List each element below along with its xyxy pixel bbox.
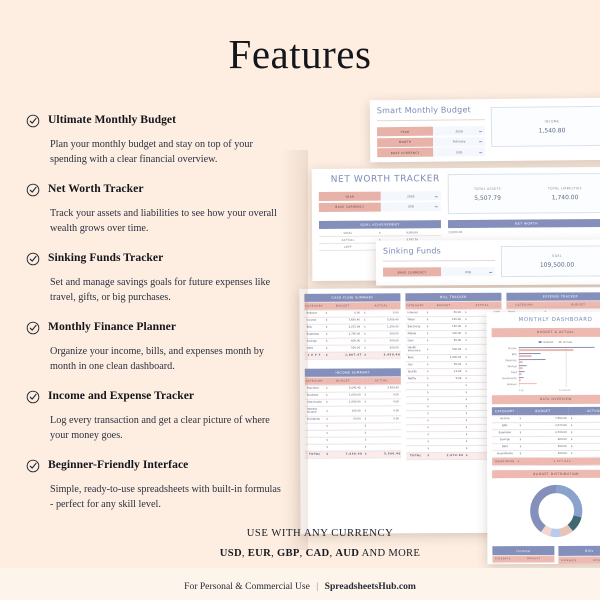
feature-title: Income and Expense Tracker [48, 389, 194, 403]
col-category: CATEGORY [405, 302, 424, 310]
col-category: CATEGORY [506, 301, 542, 309]
field-label: YEAR [319, 192, 381, 201]
cell-category: Health Insurance [406, 345, 425, 355]
donut-chart [527, 482, 585, 540]
feature-title: Sinking Funds Tracker [48, 251, 163, 265]
field-row[interactable]: BASE CURRENCY USD [377, 147, 485, 157]
kpi-label: GOAL [552, 254, 562, 258]
check-circle-icon [26, 459, 40, 478]
kpi-value: 1,540.80 [539, 127, 566, 134]
col-actual: ACTUAL [362, 377, 400, 385]
kpi-label: TOTAL LIABILITIES [526, 186, 600, 191]
chart-row: Expenses [495, 359, 600, 363]
col-category: CATEGORY [305, 378, 324, 386]
check-circle-icon [26, 390, 40, 409]
check-circle-icon [26, 321, 40, 340]
feature-description: Set and manage savings goals for future … [50, 275, 284, 306]
check-circle-icon [26, 252, 40, 271]
cash-flow-summary-table: CASH FLOW SUMMARY CATEGORY BUDGET ACTUAL… [304, 293, 400, 359]
cell-actual: 0.00 [382, 406, 401, 416]
field-row[interactable]: YEAR 2026 [319, 191, 441, 201]
chart-row: Income [495, 347, 600, 351]
chart-row: Bills [495, 353, 600, 357]
cell-currency: $ [362, 352, 381, 359]
col-budget: BUDGET [324, 302, 362, 310]
currency-suffix: AND MORE [362, 548, 421, 559]
currency-block: USE WITH ANY CURRENCY USD, EUR, GBP, CAD… [170, 528, 470, 559]
field-value[interactable]: USD [381, 202, 441, 211]
sheet-sinking-funds[interactable]: Sinking Funds BASE CURRENCY USD GOAL 109… [376, 239, 600, 285]
field-label: BASE CURRENCY [383, 267, 441, 276]
divider [377, 119, 485, 121]
field-label: BASE CURRENCY [377, 148, 433, 158]
cell-budget: 500.00 [444, 344, 463, 354]
row-label: LEFT [319, 243, 377, 250]
mini-table-bills: Bills Category Amount Rent $750.00 Water… [558, 546, 600, 564]
chart-row: Savings [495, 365, 600, 369]
dashboard-title: MONTHLY DASHBOARD [492, 317, 600, 323]
col-budget: BUDGET [425, 302, 463, 310]
table-row: Salary $5,000.00 [492, 563, 554, 564]
feature-item: Income and Expense Tracker Log every tra… [26, 389, 284, 444]
page-title: Features [0, 30, 600, 78]
section-budget-and-actual: BUDGET & ACTUAL [492, 328, 600, 337]
chart-row: Debt [495, 371, 600, 375]
mini-table-income: Income Category Amount Salary $5,000.00 … [492, 546, 554, 564]
feature-item: Sinking Funds Tracker Set and manage sav… [26, 251, 284, 306]
x-tick: 10,000.00 [559, 389, 570, 392]
cell-currency: $ [363, 406, 382, 416]
footer: For Personal & Commercial Use | Spreadsh… [0, 581, 600, 592]
field-row[interactable]: BASE CURRENCY USD [383, 267, 495, 277]
total-label: L E F T [305, 352, 324, 359]
table-header-row: Category Amount [558, 556, 600, 564]
x-tick: 0.00 [519, 389, 524, 392]
field-label: MONTH [377, 137, 433, 147]
feature-title: Monthly Finance Planner [48, 320, 176, 334]
chart-legend: BUDGET ACTUAL [495, 341, 600, 344]
check-circle-icon [26, 183, 40, 202]
kpi-value: 109,500.00 [540, 262, 574, 269]
field-label: YEAR [377, 127, 433, 137]
footer-usage: For Personal & Commercial Use [184, 581, 310, 592]
section-budget-distribution: BUDGET DISTRIBUTION [492, 469, 600, 478]
income-summary-table: INCOME SUMMARY CATEGORY BUDGET ACTUAL Pa… [305, 368, 401, 458]
chart-axis-label: 10,000.00 [448, 229, 600, 234]
field-value[interactable]: February [433, 137, 485, 147]
currency-code: GBP [277, 548, 300, 559]
currency-heading: USE WITH ANY CURRENCY [170, 528, 470, 539]
section-goal-achievement: GOAL ACHIEVEMENT [319, 220, 441, 229]
feature-title: Ultimate Monthly Budget [48, 113, 176, 127]
total-budget: 1,807.47 [343, 352, 362, 359]
chart-row: Investments [495, 377, 600, 381]
feature-description: Simple, ready-to-use spreadsheets with b… [50, 482, 284, 513]
kpi-label: INCOME [545, 119, 560, 123]
net-worth-title: NET WORTH TRACKER [319, 174, 441, 185]
table-caption: Bills [558, 546, 600, 556]
section-net-worth: NET WORTH [448, 219, 600, 228]
table-caption: Income [492, 546, 554, 555]
features-list: Ultimate Monthly Budget Plan your monthl… [26, 113, 284, 527]
kpi-value: 1,740.00 [526, 194, 600, 202]
divider [383, 260, 495, 262]
currency-codes: USD, EUR, GBP, CAD, AUD AND MORE [170, 548, 470, 559]
cell-budget: 100.00 [343, 406, 362, 416]
currency-code: CAD [306, 548, 330, 559]
table-caption: EXPENSE TRACKER [506, 292, 600, 301]
field-value[interactable]: 2026 [381, 191, 441, 200]
table-total-row: L E F T $ 1,807.47 $ 3,450.40 [305, 352, 401, 360]
kpi-label: TOTAL ASSETS [449, 186, 527, 191]
field-value[interactable]: 2026 [433, 126, 485, 136]
footer-brand: SpreadsheetsHub.com [325, 581, 416, 592]
footer-divider: | [316, 581, 318, 592]
feature-item: Ultimate Monthly Budget Plan your monthl… [26, 113, 284, 168]
table-total-row: REMAINING $1,377.41 $3,350.40 [492, 457, 600, 465]
sheet-monthly-dashboard[interactable]: MONTHLY DASHBOARD BUDGET & ACTUAL BUDGET… [487, 312, 600, 564]
feature-description: Organize your income, bills, and expense… [50, 344, 284, 375]
kpi-value: 5,507.79 [449, 194, 527, 202]
field-value[interactable]: USD [433, 147, 485, 157]
table-row: Interest Income $ 100.00 $ 0.00 [305, 406, 401, 417]
cell-currency: $ [324, 352, 343, 359]
cell-currency: $ [324, 406, 343, 416]
section-data-overview: DATA OVERVIEW [492, 395, 600, 404]
kpi-income: INCOME 1,540.80 [491, 106, 600, 147]
feature-title: Net Worth Tracker [48, 182, 144, 196]
budget-distribution-chart [492, 478, 600, 544]
feature-description: Log every transaction and get a clear pi… [50, 413, 284, 444]
kpi-group: TOTAL ASSETS 5,507.79 TOTAL LIABILITIES … [448, 173, 600, 214]
chart-row: Rollover [495, 383, 600, 387]
smart-budget-title: Smart Monthly Budget [377, 105, 485, 115]
feature-title: Beginner-Friendly Interface [48, 458, 188, 472]
field-row[interactable]: BASE CURRENCY USD [319, 202, 441, 212]
total-actual: 3,450.40 [381, 352, 400, 359]
feature-item: Monthly Finance Planner Organize your in… [26, 320, 284, 375]
feature-item: Net Worth Tracker Track your assets and … [26, 182, 284, 237]
field-label: BASE CURRENCY [319, 202, 381, 211]
field-row[interactable]: YEAR 2026 [377, 126, 485, 136]
cell-category: Interest Income [305, 406, 324, 416]
currency-code: AUD [335, 548, 359, 559]
sheet-smart-monthly-budget[interactable]: Smart Monthly Budget YEAR 2026 MONTH Feb… [370, 98, 600, 163]
currency-code: USD [220, 548, 242, 559]
legend-item-actual: ACTUAL [558, 341, 572, 344]
data-overview-table: CATEGORY BUDGET ACTUAL Income $7,650.40 … [492, 406, 600, 465]
kpi-goal: GOAL 109,500.00 [501, 245, 600, 277]
field-row[interactable]: MONTH February [377, 137, 485, 147]
col-budget: BUDGET [324, 377, 362, 385]
table-header-row: CATEGORY BUDGET ACTUAL [492, 406, 600, 415]
field-value[interactable]: USD [441, 267, 495, 276]
feature-item: Beginner-Friendly Interface Simple, read… [26, 458, 284, 513]
col-category: CATEGORY [304, 303, 323, 311]
budget-actual-chart: BUDGET ACTUAL Income Bills [492, 337, 600, 395]
col-actual: ACTUAL [362, 302, 400, 310]
feature-description: Track your assets and liabilities to see… [50, 206, 284, 237]
sinking-funds-title: Sinking Funds [383, 246, 495, 256]
legend-item-budget: BUDGET [539, 341, 554, 344]
button-cash-flow-overview[interactable]: CASH FLOW OVERVIEW [491, 161, 600, 162]
feature-description: Plan your monthly budget and stay on top… [50, 137, 284, 168]
table-total-row: TOTAL$7,650.40 $5,500.40 [305, 451, 401, 459]
currency-code: EUR [248, 548, 271, 559]
check-circle-icon [26, 114, 40, 133]
